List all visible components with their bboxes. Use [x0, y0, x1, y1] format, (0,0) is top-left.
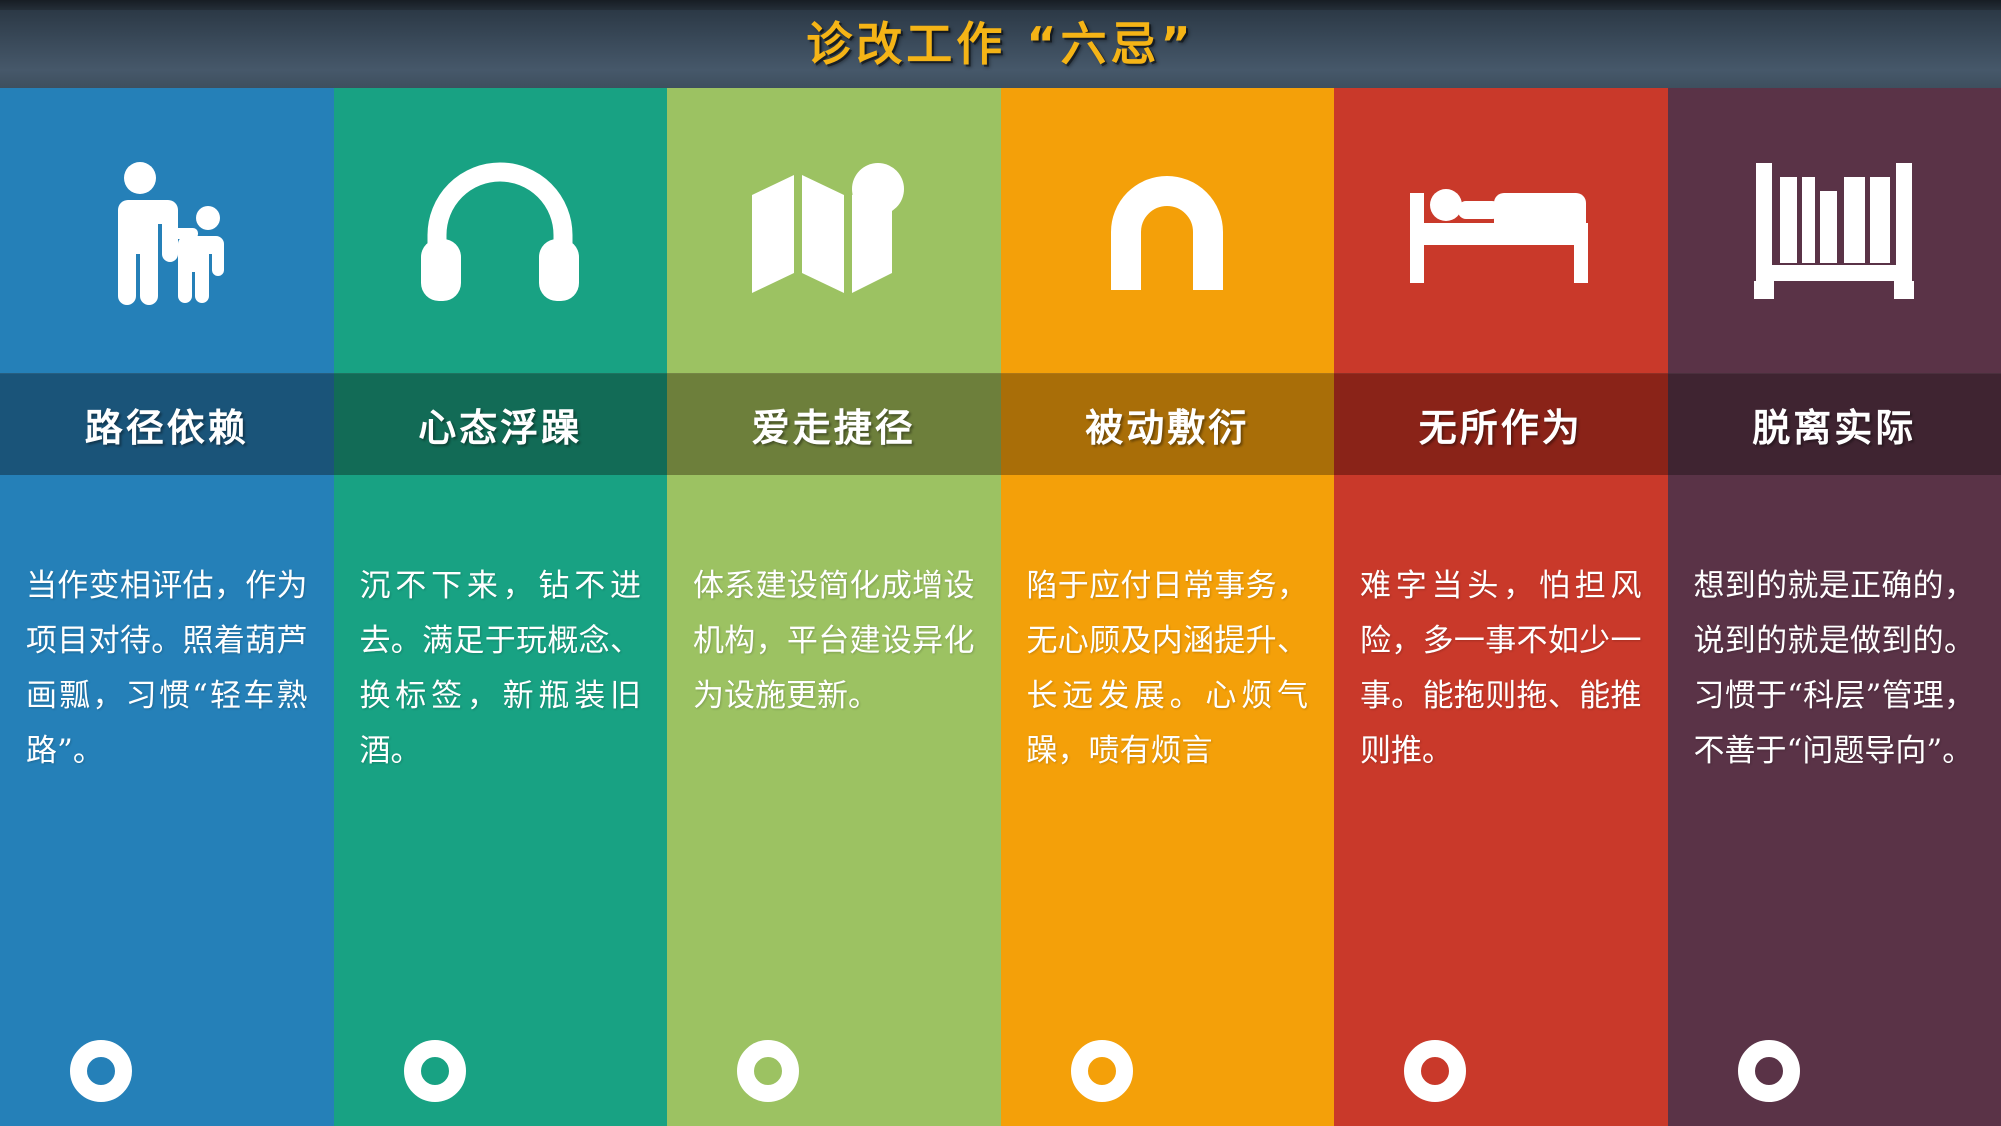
person-in-bed-icon — [1406, 171, 1596, 291]
column-label-6: 脱离实际 — [1752, 397, 1916, 452]
icon-zone-6 — [1668, 88, 2001, 373]
ring-marker-5 — [1404, 1040, 1466, 1102]
column-body-1: 当作变相评估，作为项目对待。照着葫芦画瓢，习惯“轻车熟路”。 — [26, 559, 308, 779]
body-zone-5: 难字当头，怕担风险，多一事不如少一事。能拖则拖、能推则推。 — [1334, 475, 1668, 1126]
folded-map-pin-icon — [746, 161, 921, 301]
column-5: 无所作为 难字当头，怕担风险，多一事不如少一事。能拖则拖、能推则推。 — [1334, 88, 1668, 1126]
label-band-5: 无所作为 — [1334, 373, 1668, 475]
icon-zone-1 — [0, 88, 334, 373]
column-2[interactable]: 心态浮躁 沉不下来，钻不进去。满足于玩概念、换标签，新瓶装旧酒。 — [334, 88, 668, 1126]
body-zone-6: 想到的就是正确的，说到的就是做到的。习惯于“科层”管理，不善于“问题导向”。 — [1668, 475, 2001, 1126]
column-body-3: 体系建设简化成增设机构，平台建设异化为设施更新。 — [693, 559, 975, 724]
column-body-5: 难字当头，怕担风险，多一事不如少一事。能拖则拖、能推则推。 — [1360, 559, 1642, 779]
column-label-3: 爱走捷径 — [752, 397, 916, 452]
body-zone-3: 体系建设简化成增设机构，平台建设异化为设施更新。 — [667, 475, 1001, 1126]
column-label-1: 路径依赖 — [85, 397, 249, 452]
page-title: 诊改工作 “六忌” — [806, 21, 1194, 67]
column-label-2: 心态浮躁 — [418, 397, 582, 452]
bookshelf-icon — [1754, 161, 1914, 301]
label-band-3: 爱走捷径 — [667, 373, 1001, 475]
ring-marker-6 — [1738, 1040, 1800, 1102]
ring-marker-2 — [404, 1040, 466, 1102]
icon-zone-3 — [667, 88, 1001, 373]
column-body-4: 陷于应付日常事务，无心顾及内涵提升、长远发展。心烦气躁，啧有烦言 — [1027, 559, 1309, 779]
ring-marker-4 — [1071, 1040, 1133, 1102]
ring-marker-3 — [737, 1040, 799, 1102]
body-zone-4: 陷于应付日常事务，无心顾及内涵提升、长远发展。心烦气躁，啧有烦言 — [1001, 475, 1335, 1126]
icon-zone-5 — [1334, 88, 1668, 373]
headphones-icon — [415, 161, 585, 301]
column-label-4: 被动敷衍 — [1085, 397, 1249, 452]
icon-zone-2 — [334, 88, 668, 373]
label-band-2: 心态浮躁 — [334, 373, 668, 475]
parent-and-child-icon — [92, 156, 242, 306]
label-band-6: 脱离实际 — [1668, 373, 2001, 475]
column-1[interactable]: 路径依赖 当作变相评估，作为项目对待。照着葫芦画瓢，习惯“轻车熟路”。 — [0, 88, 334, 1126]
column-body-2: 沉不下来，钻不进去。满足于玩概念、换标签，新瓶装旧酒。 — [360, 559, 642, 779]
column-label-5: 无所作为 — [1419, 397, 1583, 452]
six-taboos-columns: 路径依赖 当作变相评估，作为项目对待。照着葫芦画瓢，习惯“轻车熟路”。 心态浮躁… — [0, 88, 2001, 1126]
header-banner: 诊改工作 “六忌” — [0, 0, 2001, 88]
ring-marker-1 — [70, 1040, 132, 1102]
label-band-1: 路径依赖 — [0, 373, 334, 475]
label-band-4: 被动敷衍 — [1001, 373, 1335, 475]
column-4: 被动敷衍 陷于应付日常事务，无心顾及内涵提升、长远发展。心烦气躁，啧有烦言 — [1001, 88, 1335, 1126]
body-zone-1: 当作变相评估，作为项目对待。照着葫芦画瓢，习惯“轻车熟路”。 — [0, 475, 334, 1126]
column-body-6: 想到的就是正确的，说到的就是做到的。习惯于“科层”管理，不善于“问题导向”。 — [1694, 559, 1976, 779]
icon-zone-4 — [1001, 88, 1335, 373]
column-6: 脱离实际 想到的就是正确的，说到的就是做到的。习惯于“科层”管理，不善于“问题导… — [1668, 88, 2001, 1126]
magnet-icon — [1092, 156, 1242, 306]
body-zone-2: 沉不下来，钻不进去。满足于玩概念、换标签，新瓶装旧酒。 — [334, 475, 668, 1126]
column-3: 爱走捷径 体系建设简化成增设机构，平台建设异化为设施更新。 — [667, 88, 1001, 1126]
